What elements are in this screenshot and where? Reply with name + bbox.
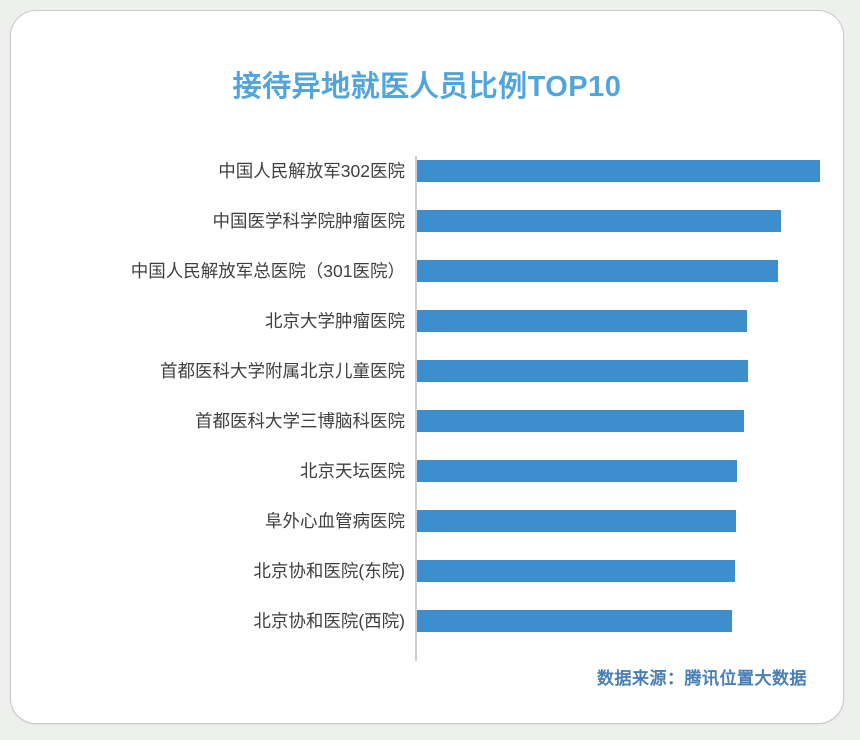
chart-row: 北京协和医院(西院)	[11, 596, 844, 646]
chart-row: 阜外心血管病医院	[11, 496, 844, 546]
bar-track	[417, 446, 837, 496]
bar-track	[417, 546, 837, 596]
category-label: 北京协和医院(西院)	[253, 596, 405, 646]
category-label: 首都医科大学附属北京儿童医院	[160, 346, 405, 396]
category-label: 北京天坛医院	[300, 446, 405, 496]
category-label: 首都医科大学三博脑科医院	[195, 396, 405, 446]
bar-track	[417, 596, 837, 646]
chart-row: 中国人民解放军302医院	[11, 146, 844, 196]
bar	[417, 410, 744, 432]
bar	[417, 610, 732, 632]
category-label: 中国人民解放军302医院	[218, 146, 405, 196]
chart-row: 北京协和医院(东院)	[11, 546, 844, 596]
chart-row: 北京天坛医院	[11, 446, 844, 496]
category-label: 北京大学肿瘤医院	[265, 296, 405, 346]
bar-track	[417, 396, 837, 446]
bar-track	[417, 246, 837, 296]
bar-track	[417, 146, 837, 196]
bar	[417, 260, 778, 282]
category-label: 北京协和医院(东院)	[253, 546, 405, 596]
plot-area: 中国人民解放军302医院中国医学科学院肿瘤医院中国人民解放军总医院（301医院）…	[11, 146, 844, 671]
bar-rows: 中国人民解放军302医院中国医学科学院肿瘤医院中国人民解放军总医院（301医院）…	[11, 146, 844, 646]
bar	[417, 460, 737, 482]
bar	[417, 210, 781, 232]
bar-track	[417, 296, 837, 346]
bar	[417, 360, 748, 382]
chart-row: 中国人民解放军总医院（301医院）	[11, 246, 844, 296]
bar	[417, 510, 736, 532]
category-label: 阜外心血管病医院	[265, 496, 405, 546]
category-label: 中国人民解放军总医院（301医院）	[131, 246, 405, 296]
data-source-note: 数据来源：腾讯位置大数据	[597, 664, 807, 689]
chart-row: 首都医科大学附属北京儿童医院	[11, 346, 844, 396]
chart-row: 北京大学肿瘤医院	[11, 296, 844, 346]
chart-row: 中国医学科学院肿瘤医院	[11, 196, 844, 246]
chart-card: 接待异地就医人员比例TOP10 中国人民解放军302医院中国医学科学院肿瘤医院中…	[10, 10, 844, 724]
chart-row: 首都医科大学三博脑科医院	[11, 396, 844, 446]
bar	[417, 560, 735, 582]
bar-track	[417, 346, 837, 396]
bar	[417, 160, 820, 182]
bar-track	[417, 196, 837, 246]
page-title: 接待异地就医人员比例TOP10	[11, 73, 843, 102]
bar-track	[417, 496, 837, 546]
bar	[417, 310, 747, 332]
category-label: 中国医学科学院肿瘤医院	[213, 196, 406, 246]
